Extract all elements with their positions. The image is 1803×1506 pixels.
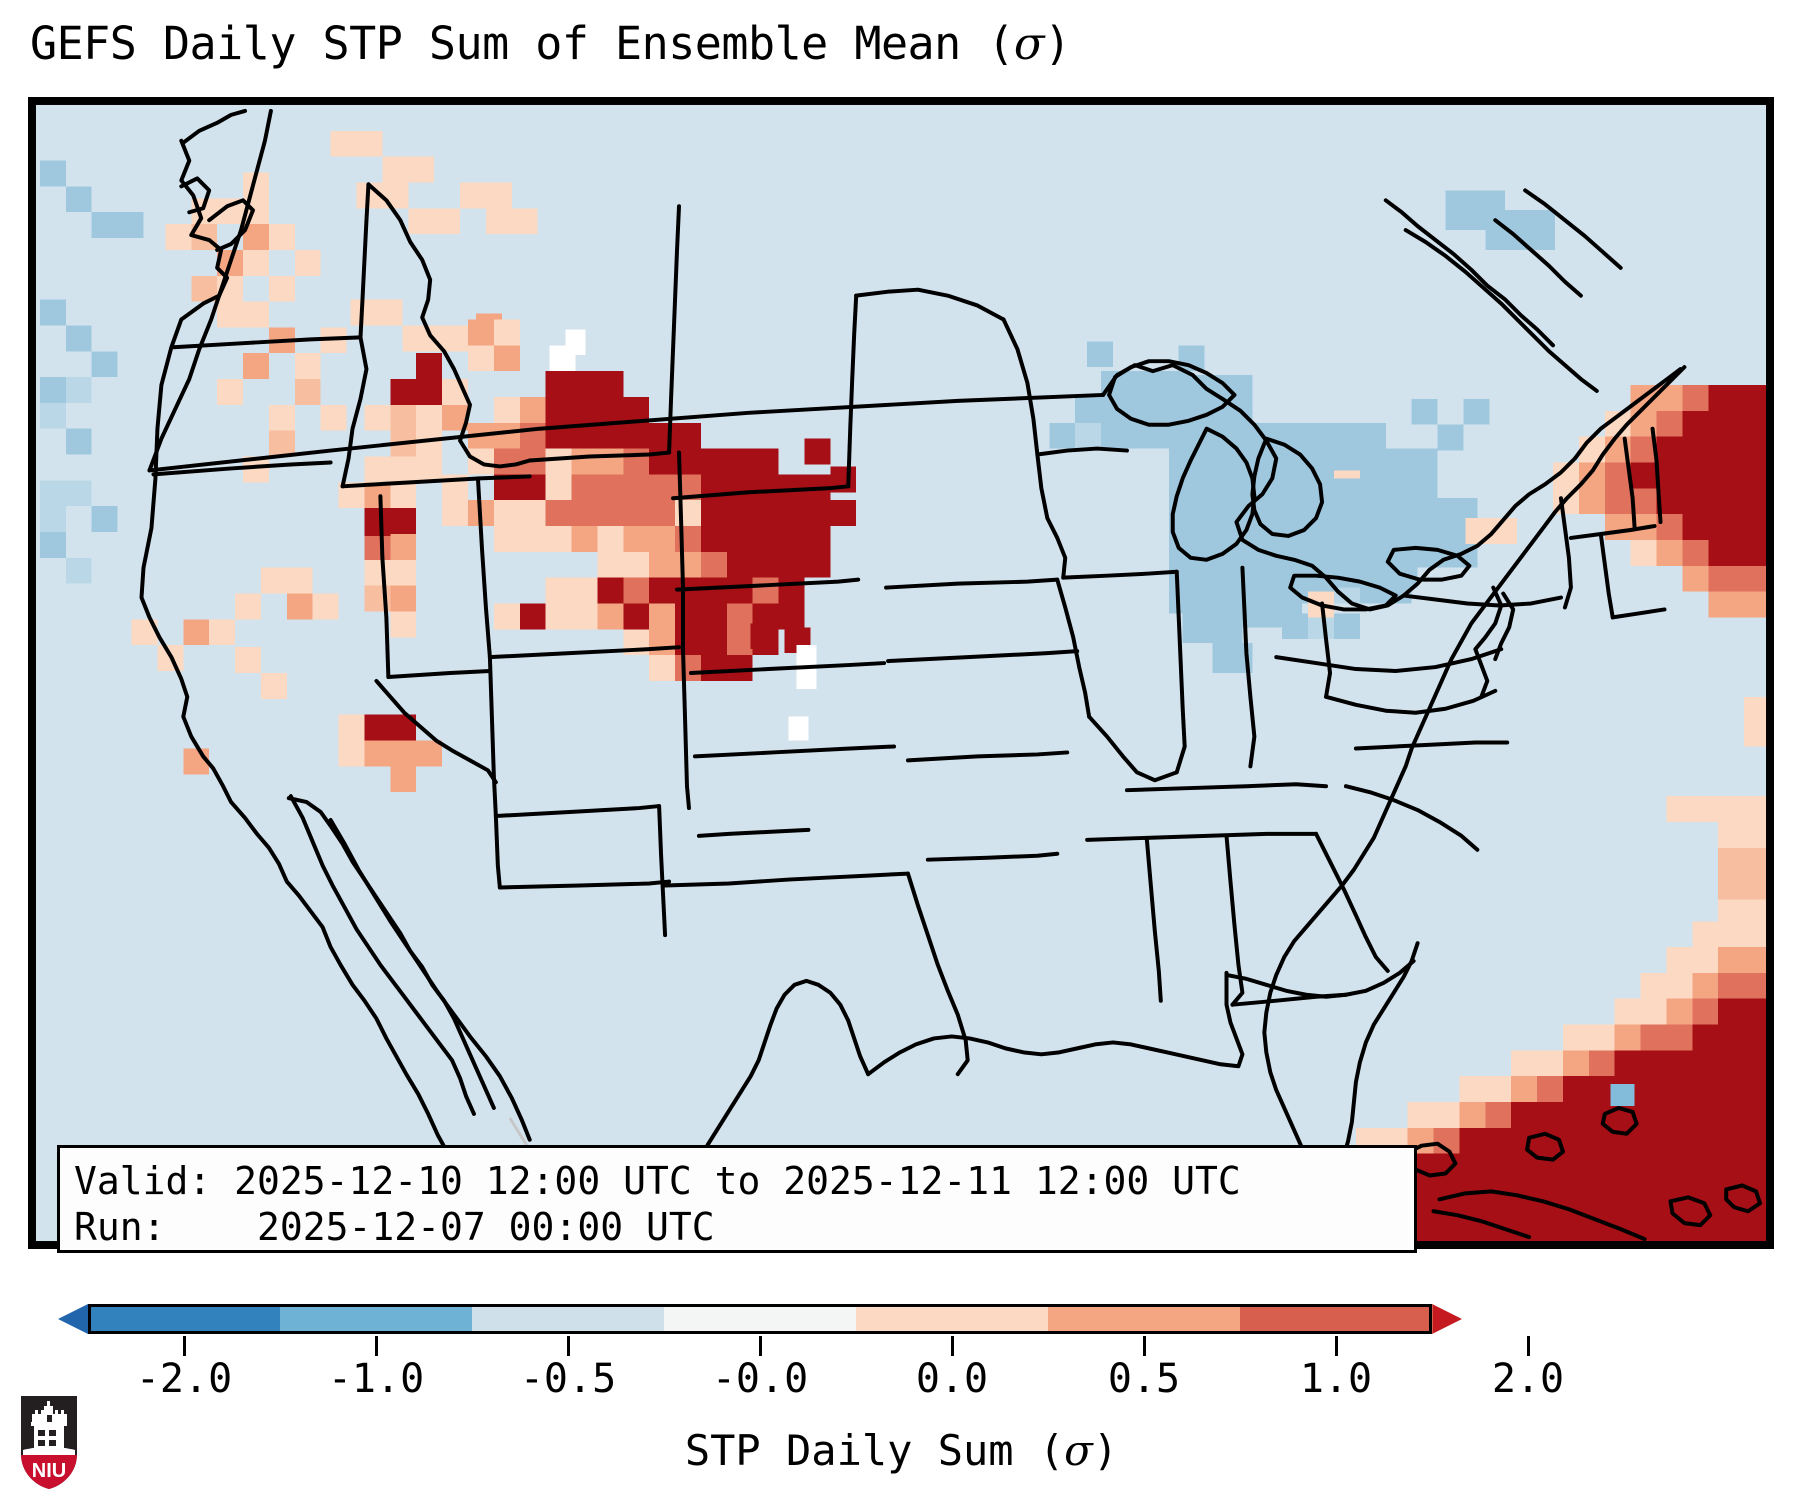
colorbar-segment-5 xyxy=(1048,1304,1241,1334)
map-background xyxy=(32,101,1770,1245)
colorbar-over-arrow xyxy=(1432,1304,1462,1334)
colorbar-segment-1 xyxy=(280,1304,473,1334)
colorbar-tick-1 xyxy=(375,1336,378,1356)
colorbar-sigma-symbol: σ xyxy=(1064,1426,1093,1475)
colorbar-label-text: STP Daily Sum ( xyxy=(685,1426,1064,1475)
model-run-line: Run: 2025-12-07 00:00 UTC xyxy=(74,1204,1400,1250)
page-title-text: GEFS Daily STP Sum of Ensemble Mean ( xyxy=(30,17,1014,70)
page-title-close-paren: ) xyxy=(1044,17,1071,70)
colorbar-segment-3 xyxy=(664,1304,857,1334)
colorbar-tick-3 xyxy=(759,1336,762,1356)
colorbar-tick-label-1: -1.0 xyxy=(328,1356,424,1402)
colorbar-tick-4 xyxy=(951,1336,954,1356)
colorbar-segment-4 xyxy=(856,1304,1049,1334)
colorbar-under-arrow xyxy=(58,1304,88,1334)
map-canvas[interactable] xyxy=(32,101,1770,1245)
colorbar-tick-2 xyxy=(567,1336,570,1356)
sigma-symbol: σ xyxy=(1014,17,1044,70)
colorbar-segment-6 xyxy=(1240,1304,1433,1334)
colorbar-tick-6 xyxy=(1335,1336,1338,1356)
colorbar-tick-label-5: 0.5 xyxy=(1108,1356,1180,1402)
niu-logo[interactable]: NIU xyxy=(18,1392,80,1492)
colorbar-tick-label-7: 2.0 xyxy=(1492,1356,1564,1402)
colorbar-segment-2 xyxy=(472,1304,665,1334)
colorbar-tick-label-4: 0.0 xyxy=(916,1356,988,1402)
valid-time-line: Valid: 2025-12-10 12:00 UTC to 2025-12-1… xyxy=(74,1158,1400,1204)
colorbar-tick-label-0: -2.0 xyxy=(136,1356,232,1402)
colorbar-tick-label-3: -0.0 xyxy=(712,1356,808,1402)
colorbar-tick-7 xyxy=(1527,1336,1530,1356)
colorbar-tick-label-6: 1.0 xyxy=(1300,1356,1372,1402)
page-title: GEFS Daily STP Sum of Ensemble Mean (σ) xyxy=(30,17,1071,70)
valid-time-infobox: Valid: 2025-12-10 12:00 UTC to 2025-12-1… xyxy=(57,1145,1417,1253)
colorbar-region[interactable]: -2.0-1.0-0.5-0.00.00.51.02.0 xyxy=(0,1300,1803,1360)
colorbar-tick-5 xyxy=(1143,1336,1146,1356)
colorbar-gradient[interactable] xyxy=(88,1304,1432,1334)
colorbar-label-close: ) xyxy=(1093,1426,1118,1475)
map-plot-area[interactable] xyxy=(28,97,1774,1249)
niu-logo-text: NIU xyxy=(32,1460,66,1482)
colorbar-segment-0 xyxy=(88,1304,281,1334)
colorbar-tick-label-2: -0.5 xyxy=(520,1356,616,1402)
colorbar-axis-label: STP Daily Sum (σ) xyxy=(0,1426,1803,1475)
colorbar-tick-0 xyxy=(183,1336,186,1356)
